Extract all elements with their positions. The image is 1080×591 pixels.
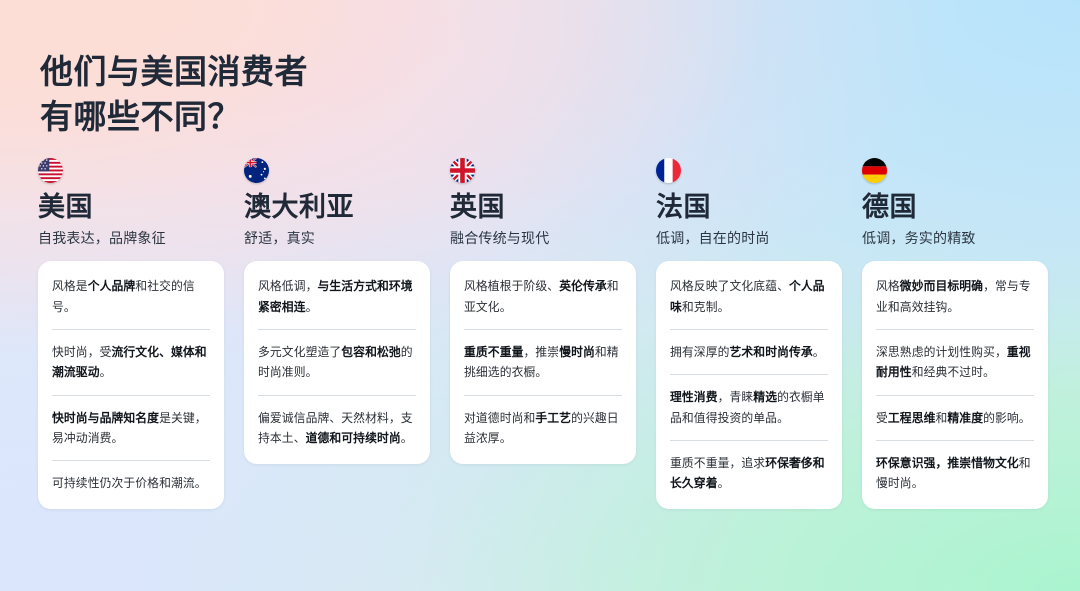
flag-usa-icon: [38, 158, 63, 183]
country-card: 风格微妙而目标明确，常与专业和高效挂钩。 深思熟虑的计划性购买，重视耐用性和经典…: [862, 261, 1048, 509]
country-column-uk: 英国 融合传统与现代 风格植根于阶级、英伦传承和亚文化。 重质不重量，推崇慢时尚…: [450, 158, 636, 464]
card-item: 受工程思维和精准度的影响。: [876, 395, 1034, 440]
slide-content: 他们与美国消费者 有哪些不同？: [0, 0, 1080, 591]
country-columns: 美国 自我表达，品牌象征 风格是个人品牌和社交的信号。 快时尚，受流行文化、媒体…: [38, 158, 1048, 509]
country-column-usa: 美国 自我表达，品牌象征 风格是个人品牌和社交的信号。 快时尚，受流行文化、媒体…: [38, 158, 224, 509]
country-tagline: 低调，务实的精致: [862, 229, 1048, 247]
card-item: 风格反映了文化底蕴、个人品味和克制。: [670, 264, 828, 329]
card-item: 风格低调，与生活方式和环境紧密相连。: [258, 264, 416, 329]
card-item: 拥有深厚的艺术和时尚传承。: [670, 329, 828, 374]
card-item: 环保意识强，推崇惜物文化和慢时尚。: [876, 440, 1034, 506]
country-card: 风格植根于阶级、英伦传承和亚文化。 重质不重量，推崇慢时尚和精挑细选的衣橱。 对…: [450, 261, 636, 464]
flag-australia-icon: [244, 158, 269, 183]
card-item: 多元文化塑造了包容和松弛的时尚准则。: [258, 329, 416, 395]
card-item: 风格微妙而目标明确，常与专业和高效挂钩。: [876, 264, 1034, 329]
flag-france-icon: [656, 158, 681, 183]
country-tagline: 低调，自在的时尚: [656, 229, 842, 247]
card-item: 风格是个人品牌和社交的信号。: [52, 264, 210, 329]
country-column-france: 法国 低调，自在的时尚 风格反映了文化底蕴、个人品味和克制。 拥有深厚的艺术和时…: [656, 158, 842, 509]
card-item: 快时尚与品牌知名度是关键，易冲动消费。: [52, 395, 210, 461]
country-column-australia: 澳大利亚 舒适，真实 风格低调，与生活方式和环境紧密相连。 多元文化塑造了包容和…: [244, 158, 430, 464]
card-item: 重质不重量，推崇慢时尚和精挑细选的衣橱。: [464, 329, 622, 395]
country-card: 风格低调，与生活方式和环境紧密相连。 多元文化塑造了包容和松弛的时尚准则。 偏爱…: [244, 261, 430, 464]
country-tagline: 自我表达，品牌象征: [38, 229, 224, 247]
country-card: 风格反映了文化底蕴、个人品味和克制。 拥有深厚的艺术和时尚传承。 理性消费，青睐…: [656, 261, 842, 509]
flag-germany-icon: [862, 158, 887, 183]
card-item: 深思熟虑的计划性购买，重视耐用性和经典不过时。: [876, 329, 1034, 395]
card-item: 偏爱诚信品牌、天然材料，支持本土、道德和可持续时尚。: [258, 395, 416, 461]
page-title: 他们与美国消费者 有哪些不同？: [40, 50, 308, 140]
card-item: 快时尚，受流行文化、媒体和潮流驱动。: [52, 329, 210, 395]
country-name: 英国: [450, 192, 636, 222]
country-name: 澳大利亚: [244, 192, 430, 222]
card-item: 风格植根于阶级、英伦传承和亚文化。: [464, 264, 622, 329]
flag-uk-icon: [450, 158, 475, 183]
country-card: 风格是个人品牌和社交的信号。 快时尚，受流行文化、媒体和潮流驱动。 快时尚与品牌…: [38, 261, 224, 509]
country-name: 美国: [38, 192, 224, 222]
country-column-germany: 德国 低调，务实的精致 风格微妙而目标明确，常与专业和高效挂钩。 深思熟虑的计划…: [862, 158, 1048, 509]
card-item: 对道德时尚和手工艺的兴趣日益浓厚。: [464, 395, 622, 461]
country-name: 德国: [862, 192, 1048, 222]
card-item: 可持续性仍次于价格和潮流。: [52, 460, 210, 505]
card-item: 理性消费，青睐精选的衣橱单品和值得投资的单品。: [670, 374, 828, 440]
card-item: 重质不重量，追求环保奢侈和长久穿着。: [670, 440, 828, 506]
country-tagline: 舒适，真实: [244, 229, 430, 247]
country-tagline: 融合传统与现代: [450, 229, 636, 247]
country-name: 法国: [656, 192, 842, 222]
